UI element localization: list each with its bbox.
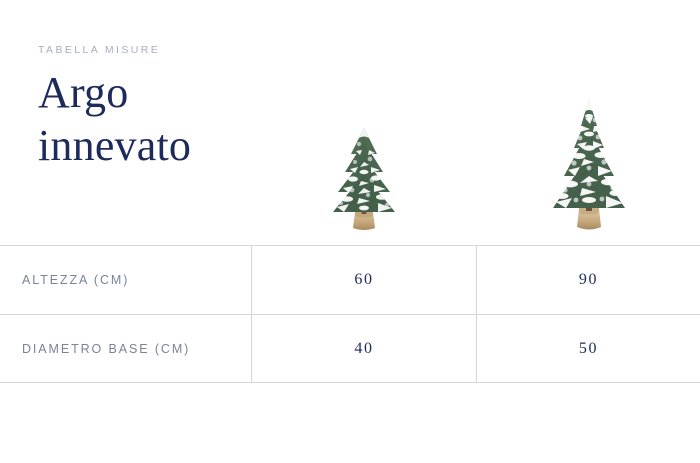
row-label-altezza: ALTEZZA (CM) xyxy=(0,246,251,314)
table-row: ALTEZZA (CM) 60 90 xyxy=(0,246,700,314)
eyebrow-label: TABELLA MISURE xyxy=(38,44,338,57)
cell-diametro-col2: 50 xyxy=(476,315,700,382)
table-row: DIAMETRO BASE (CM) 40 50 xyxy=(0,314,700,382)
size-chart-page: TABELLA MISURE Argo innevato xyxy=(0,0,700,463)
christmas-tree-small-icon xyxy=(326,124,402,232)
size-table: ALTEZZA (CM) 60 90 DIAMETRO BASE (CM) 40… xyxy=(0,245,700,383)
cell-altezza-col1: 60 xyxy=(251,246,476,314)
christmas-tree-large-icon xyxy=(546,96,632,232)
page-title: Argo innevato xyxy=(38,66,268,173)
row-label-diametro-base: DIAMETRO BASE (CM) xyxy=(0,315,251,382)
cell-diametro-col1: 40 xyxy=(251,315,476,382)
header: TABELLA MISURE Argo innevato xyxy=(38,44,338,173)
cell-altezza-col2: 90 xyxy=(476,246,700,314)
